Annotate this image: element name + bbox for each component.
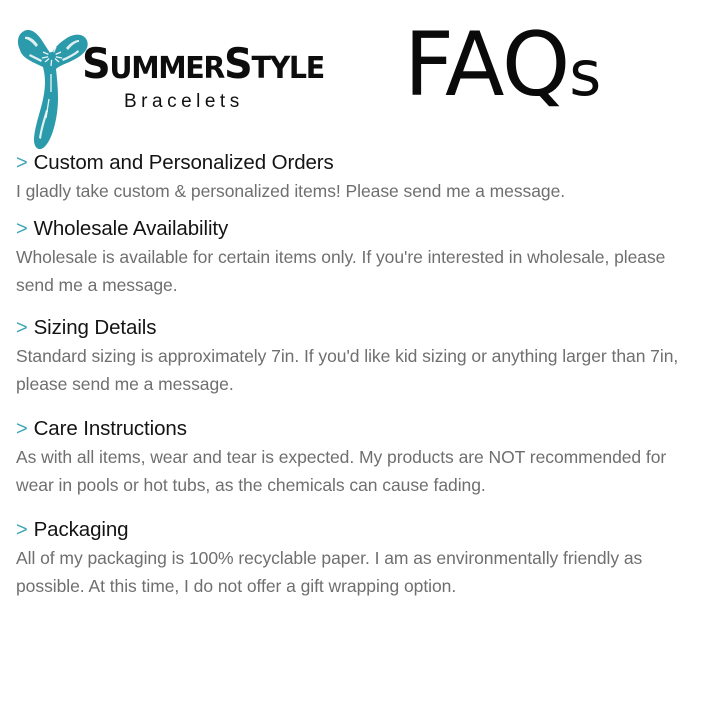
brand-wordmark-text: SUMMERSTYLE — [82, 46, 301, 87]
faq-question-label: Packaging — [34, 517, 129, 542]
faq-item-sizing-details: > Sizing Details Standard sizing is appr… — [16, 315, 704, 398]
faq-question-label: Care Instructions — [34, 416, 187, 441]
chevron-right-icon: > — [16, 518, 28, 543]
wordmark-cap-s1: S — [82, 39, 109, 88]
faq-list: > Custom and Personalized Orders I gladl… — [0, 150, 720, 610]
faq-item-custom-orders: > Custom and Personalized Orders I gladl… — [16, 150, 704, 205]
faq-answer: I gladly take custom & personalized item… — [16, 177, 702, 205]
faq-question[interactable]: > Wholesale Availability — [16, 216, 704, 242]
wordmark-ummer: UMMER — [109, 51, 224, 86]
chevron-right-icon: > — [16, 151, 28, 176]
chevron-right-icon: > — [16, 417, 28, 442]
faq-question[interactable]: > Sizing Details — [16, 315, 704, 341]
wordmark-cap-s2: S — [224, 39, 251, 88]
faq-question-label: Custom and Personalized Orders — [34, 150, 334, 175]
page-header: SUMMERSTYLE Bracelets FAQs — [0, 0, 720, 150]
page-title: FAQs — [404, 14, 600, 125]
chevron-right-icon: > — [16, 217, 28, 242]
faq-item-care-instructions: > Care Instructions As with all items, w… — [16, 416, 704, 499]
faq-question[interactable]: > Packaging — [16, 517, 704, 543]
page-title-suffix: s — [569, 37, 600, 110]
faq-answer: Wholesale is available for certain items… — [16, 243, 702, 299]
faq-answer: Standard sizing is approximately 7in. If… — [16, 342, 702, 398]
faq-question[interactable]: > Custom and Personalized Orders — [16, 150, 704, 176]
faq-answer: As with all items, wear and tear is expe… — [16, 443, 702, 499]
faq-answer: All of my packaging is 100% recyclable p… — [16, 544, 702, 600]
faq-question-label: Wholesale Availability — [34, 216, 229, 241]
wordmark-tyle: TYLE — [251, 51, 323, 86]
page-title-main: FAQ — [404, 14, 569, 117]
brand-wordmark: SUMMERSTYLE Bracelets — [82, 46, 312, 113]
faq-question[interactable]: > Care Instructions — [16, 416, 704, 442]
brand-subtitle: Bracelets — [124, 91, 312, 113]
chevron-right-icon: > — [16, 316, 28, 341]
faq-item-packaging: > Packaging All of my packaging is 100% … — [16, 517, 704, 600]
faq-item-wholesale-availability: > Wholesale Availability Wholesale is av… — [16, 216, 704, 299]
brand-logo[interactable]: SUMMERSTYLE Bracelets — [12, 8, 312, 148]
faq-question-label: Sizing Details — [34, 315, 157, 340]
